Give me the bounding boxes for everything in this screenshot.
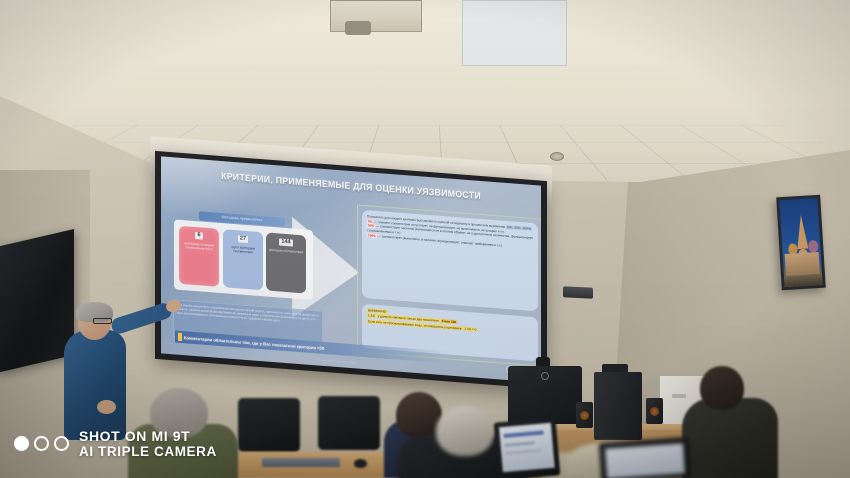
projector-screen: КРИТЕРИИ, ПРИМЕНЯЕМЫЕ ДЛЯ ОЦЕНКИ УЯЗВИМО… xyxy=(155,151,547,389)
laptop-2 xyxy=(599,437,692,478)
criteria-card-3-number: 144 xyxy=(279,238,292,246)
criteria-card-3: 144 критерия соответствия xyxy=(266,232,306,293)
laptop-2-screen xyxy=(605,443,685,478)
attention-line-0-tag: 1.3.8 xyxy=(367,313,376,318)
scoring-scale: (0%, 50%, 100%) xyxy=(506,225,532,231)
audience-body xyxy=(682,398,778,478)
banner-bullet-icon xyxy=(178,333,182,341)
cathedral-body xyxy=(785,252,820,276)
criteria-card-3-label: критерия соответствия xyxy=(266,247,306,254)
chair xyxy=(318,396,380,450)
smoke-detector-icon xyxy=(550,152,564,161)
watermark-line-2: AI TRIPLE CAMERA xyxy=(79,444,217,460)
criteria-card-1-number: 6 xyxy=(195,232,202,240)
photograph-scene: КРИТЕРИИ, ПРИМЕНЯЕМЫЕ ДЛЯ ОЦЕНКИ УЯЗВИМО… xyxy=(0,0,850,478)
mouse xyxy=(354,459,367,468)
cathedral-spire xyxy=(795,215,808,250)
wall-speaker xyxy=(563,286,593,299)
framed-photo-st-basils xyxy=(776,195,826,291)
criteria-card-2: 27 групп критериев соответствия xyxy=(223,229,263,290)
camera-watermark: SHOT ON MI 9T AI TRIPLE CAMERA xyxy=(14,428,217,460)
lens-dot-1-icon xyxy=(14,436,29,451)
laptop-1-screen xyxy=(499,423,555,472)
rule-2-value: 100% xyxy=(367,233,377,238)
desktop-speaker-right xyxy=(646,398,663,424)
chair xyxy=(238,398,300,452)
audience-head xyxy=(436,406,494,456)
criteria-card-1-label: критериев по видам обеспечения ФЗ-2 xyxy=(179,241,219,252)
picture-image xyxy=(779,198,822,287)
presentation-slide: КРИТЕРИИ, ПРИМЕНЯЕМЫЕ ДЛЯ ОЦЕНКИ УЯЗВИМО… xyxy=(161,156,541,382)
watermark-lens-dots-icon xyxy=(14,436,69,451)
lens-dot-3-icon xyxy=(54,436,69,451)
scoring-rules-box: Показатель для каждого критерия выставля… xyxy=(362,210,538,312)
watermark-text: SHOT ON MI 9T AI TRIPLE CAMERA xyxy=(79,428,217,460)
slide-right-panel: Показатель для каждого критерия выставля… xyxy=(357,204,541,366)
audience-head xyxy=(700,366,744,410)
wall-mounted-tv xyxy=(0,229,74,373)
projector-mount xyxy=(330,0,422,32)
presenter-glasses-icon xyxy=(93,318,112,324)
dell-logo-icon xyxy=(541,372,549,380)
criteria-card-2-label: групп критериев соответствия xyxy=(223,244,263,255)
cathedral-base-crowd xyxy=(784,275,823,287)
presenter-torso xyxy=(64,330,126,440)
lens-dot-2-icon xyxy=(34,436,49,451)
desktop-monitor xyxy=(508,366,582,424)
attention-line-1-tag: 1.3.8 = 0 xyxy=(463,326,477,331)
laptop-1 xyxy=(494,417,561,478)
keyboard xyxy=(262,458,340,467)
cathedral-dome xyxy=(808,240,819,253)
watermark-line-1: SHOT ON MI 9T xyxy=(79,428,217,445)
presenter-hand xyxy=(97,400,116,414)
attention-line-0-tag2: 0 или 100 xyxy=(441,319,457,324)
criteria-card-2-number: 27 xyxy=(238,235,248,243)
ceiling-light-panel xyxy=(462,0,567,66)
desktop-speaker-left xyxy=(576,402,593,428)
criteria-card-1: 6 критериев по видам обеспечения ФЗ-2 xyxy=(179,226,219,287)
computer-tower xyxy=(594,372,642,440)
